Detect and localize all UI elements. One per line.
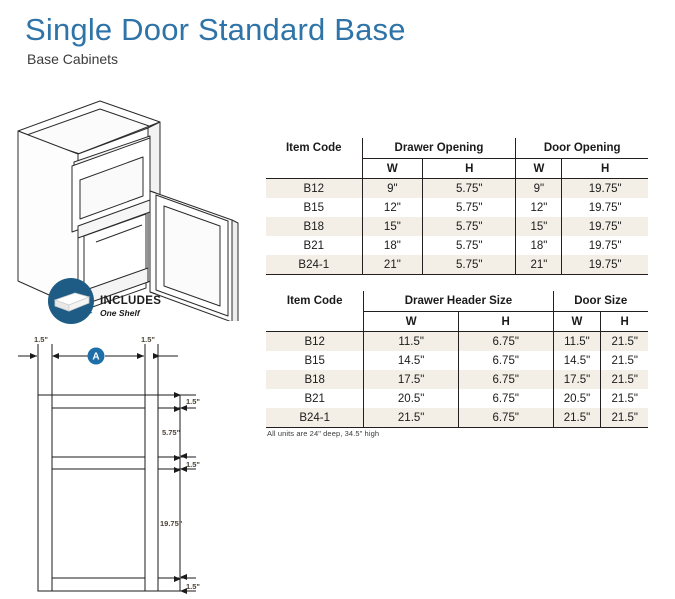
- table-row: B15 14.5" 6.75" 14.5" 21.5": [266, 351, 648, 370]
- col-group-2-header: Door Opening: [516, 138, 648, 159]
- table-row: B12 9" 5.75" 9" 19.75": [266, 179, 648, 199]
- col-item-code-spacer: [266, 312, 364, 332]
- spec-sheet-page: Single Door Standard Base Base Cabinets: [0, 0, 675, 599]
- sizes-table: Item Code Drawer Header Size Door Size W…: [266, 291, 648, 428]
- table-row: B15 12" 5.75" 12" 19.75": [266, 198, 648, 217]
- cell-item-code: B15: [266, 198, 362, 217]
- cell-g2-w: 12": [516, 198, 562, 217]
- col-group-1-header: Drawer Opening: [362, 138, 516, 159]
- cell-g2-h: 21.5": [601, 389, 648, 408]
- col-g2-h-header: H: [562, 159, 648, 179]
- table-subheader-row: W H W H: [266, 159, 648, 179]
- cell-g2-h: 19.75": [562, 179, 648, 199]
- cell-item-code: B21: [266, 236, 362, 255]
- col-g1-w-header: W: [364, 312, 459, 332]
- cell-g2-w: 9": [516, 179, 562, 199]
- table-row: B18 17.5" 6.75" 17.5" 21.5": [266, 370, 648, 389]
- cell-g2-w: 14.5": [553, 351, 601, 370]
- cell-g2-h: 21.5": [601, 370, 648, 389]
- cell-g1-w: 17.5": [364, 370, 459, 389]
- cell-g2-h: 19.75": [562, 255, 648, 275]
- cell-g1-h: 5.75": [423, 217, 516, 236]
- cell-g1-h: 6.75": [458, 370, 553, 389]
- cell-g1-h: 6.75": [458, 332, 553, 352]
- cell-g2-w: 18": [516, 236, 562, 255]
- cell-g1-w: 12": [362, 198, 423, 217]
- cell-g2-h: 21.5": [601, 332, 648, 352]
- dim-marker-a-label: A: [92, 352, 99, 363]
- cell-item-code: B21: [266, 389, 364, 408]
- cell-g1-w: 18": [362, 236, 423, 255]
- table-row: B18 15" 5.75" 15" 19.75": [266, 217, 648, 236]
- table-head: Item Code Drawer Header Size Door Size W…: [266, 291, 648, 332]
- cell-g2-h: 19.75": [562, 236, 648, 255]
- cell-g2-w: 21": [516, 255, 562, 275]
- cell-item-code: B24-1: [266, 408, 364, 428]
- cell-g1-h: 6.75": [458, 351, 553, 370]
- cell-g2-h: 21.5": [601, 408, 648, 428]
- cell-g1-h: 5.75": [423, 255, 516, 275]
- dim-right-stile: 1.5": [141, 335, 155, 344]
- cell-g1-h: 5.75": [423, 236, 516, 255]
- includes-badge: INCLUDES One Shelf: [48, 278, 183, 330]
- badge-shelf-label: One Shelf: [100, 309, 161, 318]
- cell-g1-h: 6.75": [458, 408, 553, 428]
- footnote: All units are 24" deep, 34.5" high: [267, 429, 379, 438]
- col-group-2-header: Door Size: [553, 291, 648, 312]
- col-item-code-header: Item Code: [266, 291, 364, 312]
- col-item-code-spacer: [266, 159, 362, 179]
- col-group-1-header: Drawer Header Size: [364, 291, 553, 312]
- dim-door-opening-height: 19.75": [160, 519, 183, 528]
- page-title: Single Door Standard Base: [25, 12, 406, 48]
- openings-table: Item Code Drawer Opening Door Opening W …: [266, 138, 648, 275]
- cell-g1-w: 21.5": [364, 408, 459, 428]
- table-row: B24-1 21.5" 6.75" 21.5" 21.5": [266, 408, 648, 428]
- col-g2-w-header: W: [553, 312, 601, 332]
- col-item-code-header: Item Code: [266, 138, 362, 159]
- col-g2-h-header: H: [601, 312, 648, 332]
- dim-left-stile: 1.5": [34, 335, 48, 344]
- dim-top-rail: 1.5": [186, 397, 200, 406]
- cell-g2-w: 15": [516, 217, 562, 236]
- cell-g1-w: 20.5": [364, 389, 459, 408]
- cell-g2-h: 19.75": [562, 217, 648, 236]
- badge-includes-label: INCLUDES: [100, 296, 161, 308]
- cell-g1-w: 11.5": [364, 332, 459, 352]
- cell-g2-w: 17.5": [553, 370, 601, 389]
- cell-g1-h: 5.75": [423, 179, 516, 199]
- table-body: B12 11.5" 6.75" 11.5" 21.5" B15 14.5" 6.…: [266, 332, 648, 428]
- badge-text-group: INCLUDES One Shelf: [100, 296, 161, 317]
- table-row: B21 18" 5.75" 18" 19.75": [266, 236, 648, 255]
- cell-g2-w: 20.5": [553, 389, 601, 408]
- table-row: B21 20.5" 6.75" 20.5" 21.5": [266, 389, 648, 408]
- dim-mid-rail: 1.5": [186, 460, 200, 469]
- col-g2-w-header: W: [516, 159, 562, 179]
- cell-g2-h: 21.5": [601, 351, 648, 370]
- cell-g1-w: 15": [362, 217, 423, 236]
- table-group-header-row: Item Code Drawer Header Size Door Size: [266, 291, 648, 312]
- cabinet-elevation-drawing: 1.5" 1.5" 1.5" 5.75" 1.5" 19.75" 1.5" A: [0, 330, 255, 599]
- cell-g1-h: 6.75": [458, 389, 553, 408]
- cell-item-code: B12: [266, 332, 364, 352]
- cell-item-code: B15: [266, 351, 364, 370]
- table-row: B24-1 21" 5.75" 21" 19.75": [266, 255, 648, 275]
- table-head: Item Code Drawer Opening Door Opening W …: [266, 138, 648, 179]
- cell-g1-h: 5.75": [423, 198, 516, 217]
- cell-g2-h: 19.75": [562, 198, 648, 217]
- cell-g1-w: 21": [362, 255, 423, 275]
- cell-g2-w: 21.5": [553, 408, 601, 428]
- cell-item-code: B18: [266, 370, 364, 389]
- cell-item-code: B24-1: [266, 255, 362, 275]
- table-row: B12 11.5" 6.75" 11.5" 21.5": [266, 332, 648, 352]
- col-g1-h-header: H: [458, 312, 553, 332]
- shelf-icon: [53, 291, 91, 320]
- table-group-header-row: Item Code Drawer Opening Door Opening: [266, 138, 648, 159]
- cell-g1-w: 14.5": [364, 351, 459, 370]
- cell-g1-w: 9": [362, 179, 423, 199]
- table-subheader-row: W H W H: [266, 312, 648, 332]
- table-body: B12 9" 5.75" 9" 19.75" B15 12" 5.75" 12"…: [266, 179, 648, 275]
- page-subtitle: Base Cabinets: [27, 51, 118, 67]
- col-g1-h-header: H: [423, 159, 516, 179]
- col-g1-w-header: W: [362, 159, 423, 179]
- dim-bottom-rail: 1.5": [186, 582, 200, 591]
- cell-g2-w: 11.5": [553, 332, 601, 352]
- cell-item-code: B18: [266, 217, 362, 236]
- dim-drawer-opening-height: 5.75": [162, 428, 181, 437]
- cell-item-code: B12: [266, 179, 362, 199]
